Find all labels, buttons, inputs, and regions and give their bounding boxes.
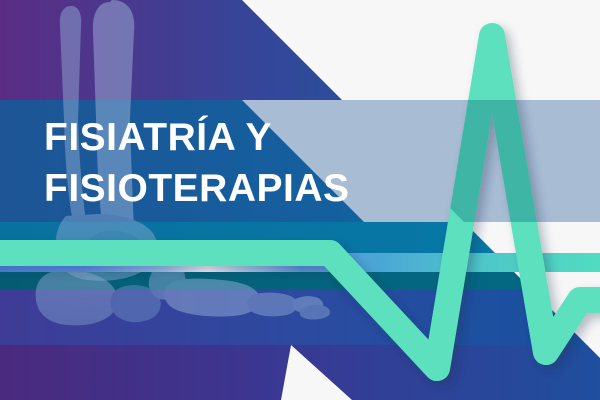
banner-root: FISIATRÍA Y FISIOTERAPIAS xyxy=(0,0,600,400)
banner-artwork xyxy=(0,0,600,400)
